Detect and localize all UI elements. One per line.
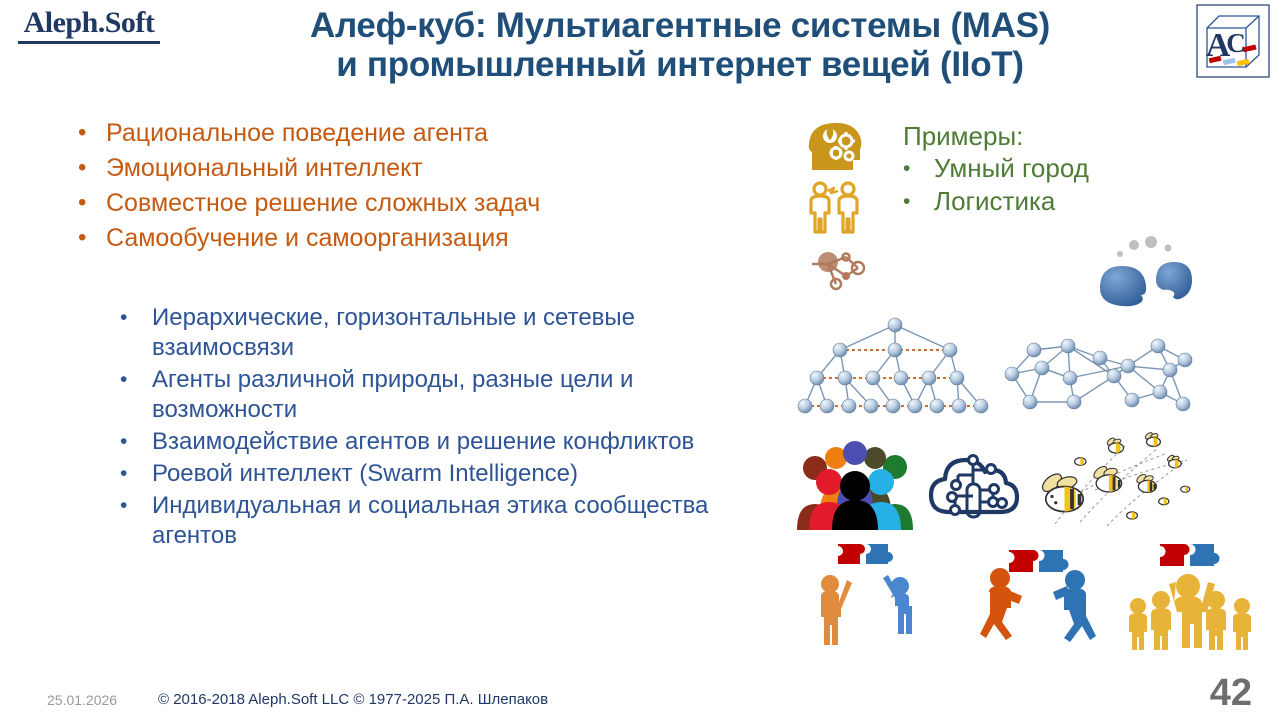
level1-bullet-text: Рациональное поведение агента [106,118,488,149]
list-item: • Роевой интеллект (Swarm Intelligence) [120,459,760,489]
bullet-dot: • [78,118,106,148]
head-with-gears-icon [806,120,868,172]
bullet-dot: • [120,459,152,489]
level2-bullet-text: Роевой интеллект (Swarm Intelligence) [152,459,578,489]
level2-bullet-text: Индивидуальная и социальная этика сообще… [152,491,732,551]
crowd-with-puzzle-illustration [1120,534,1270,652]
list-item: • Эмоциональный интеллект [78,153,728,184]
page-number: 42 [1210,674,1252,712]
bullet-dot: • [120,427,152,457]
list-item: • Иерархические, горизонтальные и сетевы… [120,303,760,363]
list-item: • Рациональное поведение агента [78,118,728,149]
list-item: • Индивидуальная и социальная этика сооб… [120,491,760,551]
example-item-text: Логистика [934,185,1055,218]
level2-bullet-text: Агенты различной природы, разные цели и … [152,365,732,425]
list-item: • Логистика [903,185,1203,218]
list-item: • Агенты различной природы, разные цели … [120,365,760,425]
mesh-network-diagram [1000,330,1195,420]
bullet-dot: • [78,188,106,218]
two-people-puzzle-illustration [808,534,933,652]
company-logo-text: Aleph.Soft [14,8,164,38]
two-people-talking-icon [806,180,868,236]
footer-date: 25.01.2026 [47,692,117,708]
level2-bullet-text: Взаимодействие агентов и решение конфлик… [152,427,694,457]
page-title: Алеф-куб: Мультиагентные системы (MAS) и… [180,6,1180,84]
two-people-joining-puzzle-illustration [975,534,1110,652]
example-item-text: Умный город [934,152,1089,185]
page-title-line2: и промышленный интернет вещей (IIoT) [180,45,1180,84]
list-item: • Умный город [903,152,1203,185]
examples-heading: Примеры: [903,120,1203,152]
list-item: • Совместное решение сложных задач [78,188,728,219]
bullet-dot: • [903,152,934,185]
company-logo-underline [18,41,160,44]
level1-bullet-text: Совместное решение сложных задач [106,188,540,219]
page-title-line1: Алеф-куб: Мультиагентные системы (MAS) [310,6,1050,45]
cube-logo-icon[interactable]: A C [1196,4,1270,78]
cloud-computing-icon [925,440,1021,528]
bullet-dot: • [120,303,152,333]
footer-copyright: © 2016-2018 Aleph.Soft LLC © 1977-2025 П… [158,691,548,708]
bullet-dot: • [120,491,152,521]
examples-block: Примеры: • Умный город • Логистика [903,120,1203,218]
bullet-dot: • [120,365,152,395]
slide: Aleph.Soft Алеф-куб: Мультиагентные сист… [0,0,1280,720]
list-item: • Самообучение и самоорганизация [78,223,728,254]
list-item: • Взаимодействие агентов и решение конфл… [120,427,760,457]
level1-bullet-text: Самообучение и самоорганизация [106,223,509,254]
network-analysis-icon [806,248,868,292]
level2-bullet-list: • Иерархические, горизонтальные и сетевы… [120,303,760,553]
company-logo[interactable]: Aleph.Soft [14,8,164,44]
bullet-dot: • [78,223,106,253]
bullet-dot: • [78,153,106,183]
level1-bullet-text: Эмоциональный интеллект [106,153,423,184]
bullet-dot: • [903,185,934,218]
two-heads-conversation-icon [1090,232,1200,318]
svg-text:C: C [1226,28,1246,58]
level1-bullet-list: • Рациональное поведение агента • Эмоцио… [78,118,728,258]
hierarchical-network-diagram [795,312,995,420]
crowd-of-people-illustration [795,438,915,530]
bee-swarm-illustration [1035,432,1195,532]
level2-bullet-text: Иерархические, горизонтальные и сетевые … [152,303,732,363]
